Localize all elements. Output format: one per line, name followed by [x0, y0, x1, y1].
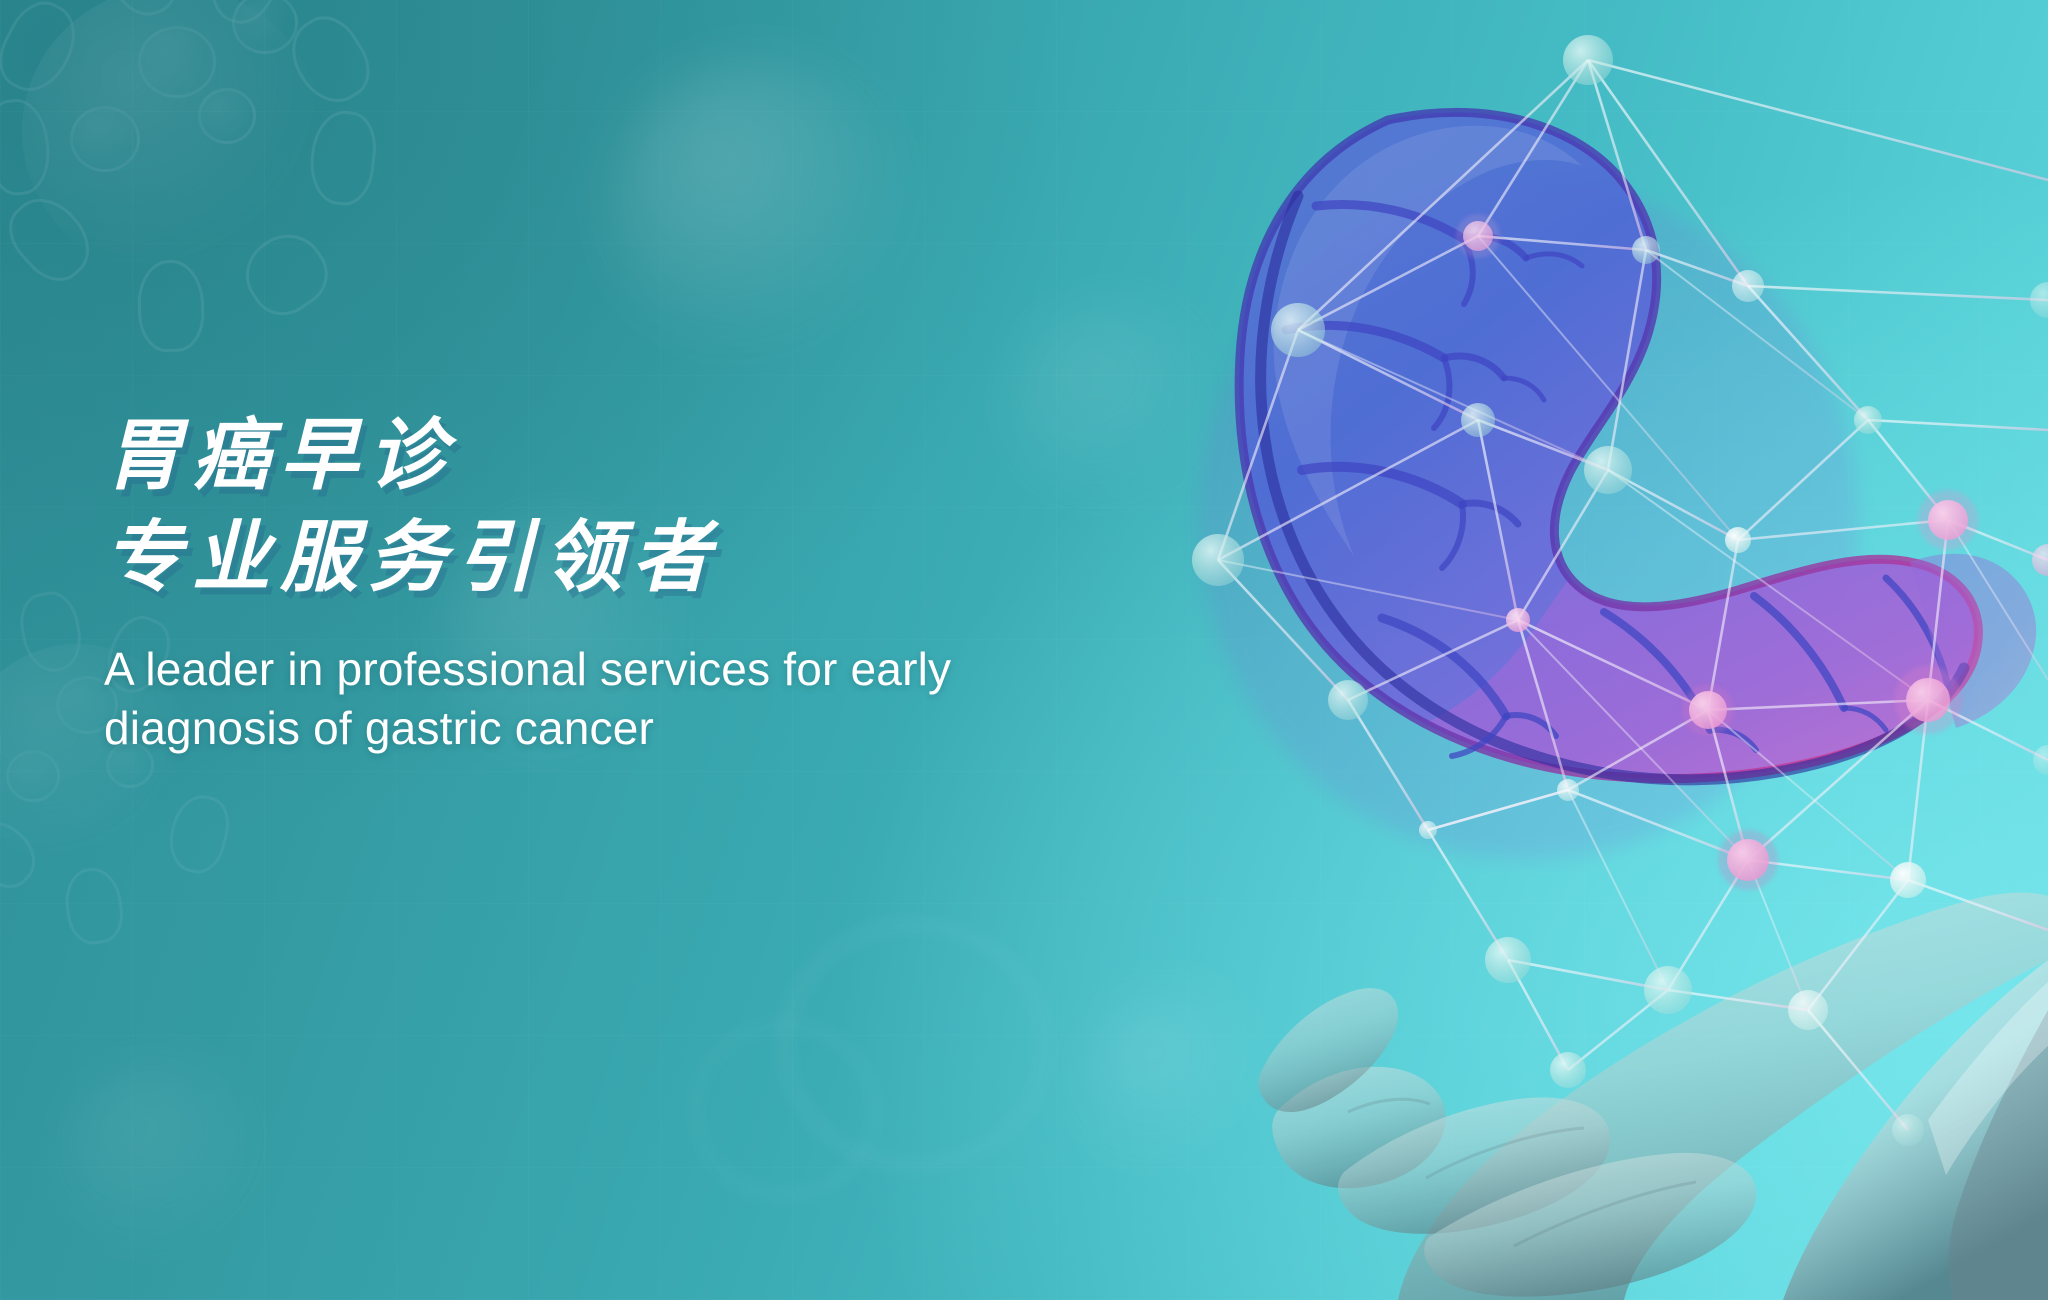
network-node: [1854, 406, 1882, 434]
headline-cn-line-2: 专业服务引领者: [104, 517, 1184, 597]
network-node: [2032, 544, 2048, 576]
subtitle-en: A leader in professional services for ea…: [104, 640, 1184, 760]
hero-banner: 胃癌早诊 专业服务引领者 A leader in professional se…: [0, 0, 2048, 1300]
network-node: [1563, 35, 1613, 85]
network-node: [1732, 270, 1764, 302]
hero-copy-block: 胃癌早诊 专业服务引领者 A leader in professional se…: [104, 415, 1184, 759]
network-node: [1644, 966, 1692, 1014]
network-node: [2033, 745, 2048, 775]
network-node: [1192, 534, 1244, 586]
network-node: [1419, 821, 1437, 839]
network-node: [1461, 403, 1495, 437]
subtitle-en-line-2: diagnosis of gastric cancer: [104, 699, 1184, 759]
network-node: [1725, 527, 1751, 553]
subtitle-en-line-1: A leader in professional services for ea…: [104, 640, 1184, 700]
network-node: [1890, 862, 1926, 898]
network-node: [1632, 236, 1660, 264]
open-hand-in-lab-coat-sleeve: [1259, 893, 2048, 1300]
network-node: [2030, 282, 2048, 318]
network-node: [1584, 446, 1632, 494]
network-node: [1506, 608, 1530, 632]
network-node: [1485, 937, 1531, 983]
network-node: [1788, 990, 1828, 1030]
network-node: [1892, 1114, 1924, 1146]
network-node: [1557, 779, 1579, 801]
network-node: [1550, 1052, 1586, 1088]
network-node: [1271, 303, 1325, 357]
stomach-network-illustration: [1048, 0, 2048, 1300]
network-node: [1328, 680, 1368, 720]
headline-cn-line-1: 胃癌早诊: [104, 415, 1184, 495]
